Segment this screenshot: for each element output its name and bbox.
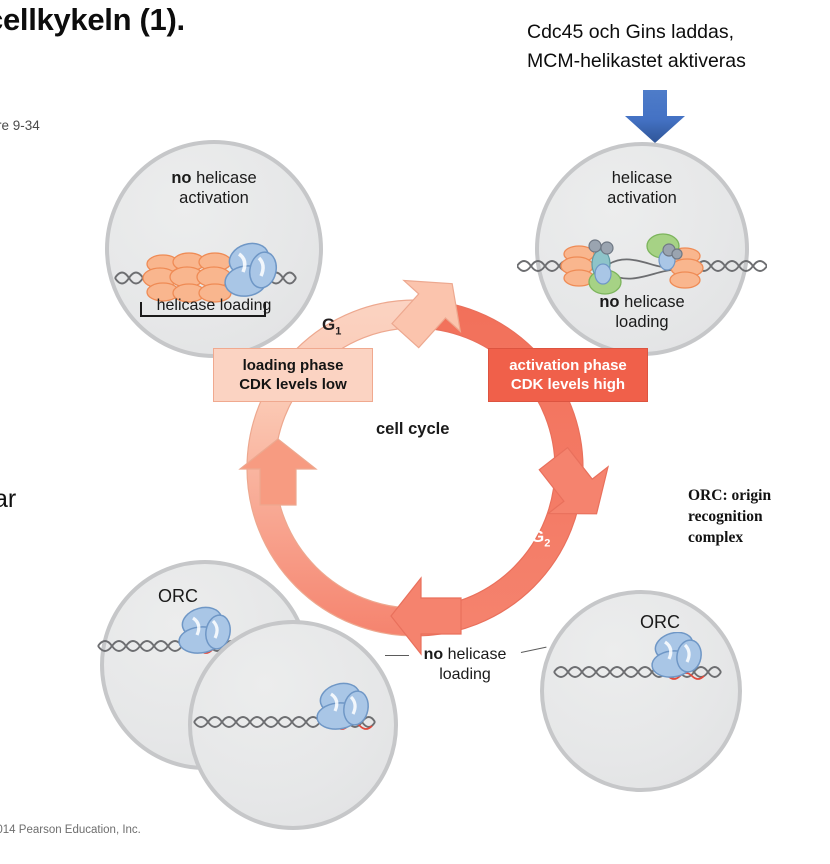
loading-phase-line-2: CDK levels low (224, 375, 362, 394)
cell-tl-title-line2: activation (109, 188, 319, 208)
cell-tr-footer-rest: helicase (620, 293, 685, 311)
phase-label-s: S (513, 315, 524, 335)
loading-phase-line-1: loading phase (224, 356, 362, 375)
figure-caption: gure 9-34 (0, 118, 40, 133)
annotation-line-2: MCM-helikastet aktiveras (527, 47, 827, 76)
annotation-line-1: Cdc45 och Gins laddas, (527, 18, 827, 47)
left-clipped-text-line-2: . (0, 518, 1, 547)
orc-legend-line-3: complex (688, 527, 828, 548)
cell-tl-title: no helicase activation (109, 168, 319, 208)
down-arrow-icon (615, 88, 695, 146)
cell-tr-title-line2: activation (539, 188, 745, 208)
orc-on-dna-molecule-2 (188, 682, 400, 752)
cell-cycle-center-label: cell cycle (376, 420, 449, 439)
phase-label-g1: G1 (322, 315, 341, 337)
cell-cycle-arrow (215, 268, 615, 668)
cell-tl-title-bold: no (171, 169, 191, 187)
loading-phase-box: loading phase CDK levels low (213, 348, 373, 402)
cell-tr-title-line1: helicase (539, 168, 745, 188)
cell-bl-a-orc-label: ORC (158, 586, 198, 607)
activation-phase-line-2: CDK levels high (499, 375, 637, 394)
orc-legend-line-2: recognition (688, 506, 828, 527)
cell-tl-title-rest: helicase (192, 169, 257, 187)
orc-legend: ORC: origin recognition complex (688, 485, 828, 548)
annotation-text: Cdc45 och Gins laddas, MCM-helikastet ak… (527, 18, 827, 76)
phase-label-g2: G2 (531, 527, 550, 549)
phase-label-m: M (311, 527, 325, 547)
left-clipped-text-line-1: ar (0, 485, 16, 514)
orc-legend-line-1: ORC: origin (688, 485, 828, 506)
cell-br-orc-label: ORC (640, 612, 680, 633)
activation-phase-line-1: activation phase (499, 356, 637, 375)
activation-phase-box: activation phase CDK levels high (488, 348, 648, 402)
cell-tr-title: helicase activation (539, 168, 745, 208)
copyright-notice: 2014 Pearson Education, Inc. (0, 824, 141, 836)
page-title: cellkykeln (1). (0, 2, 456, 38)
